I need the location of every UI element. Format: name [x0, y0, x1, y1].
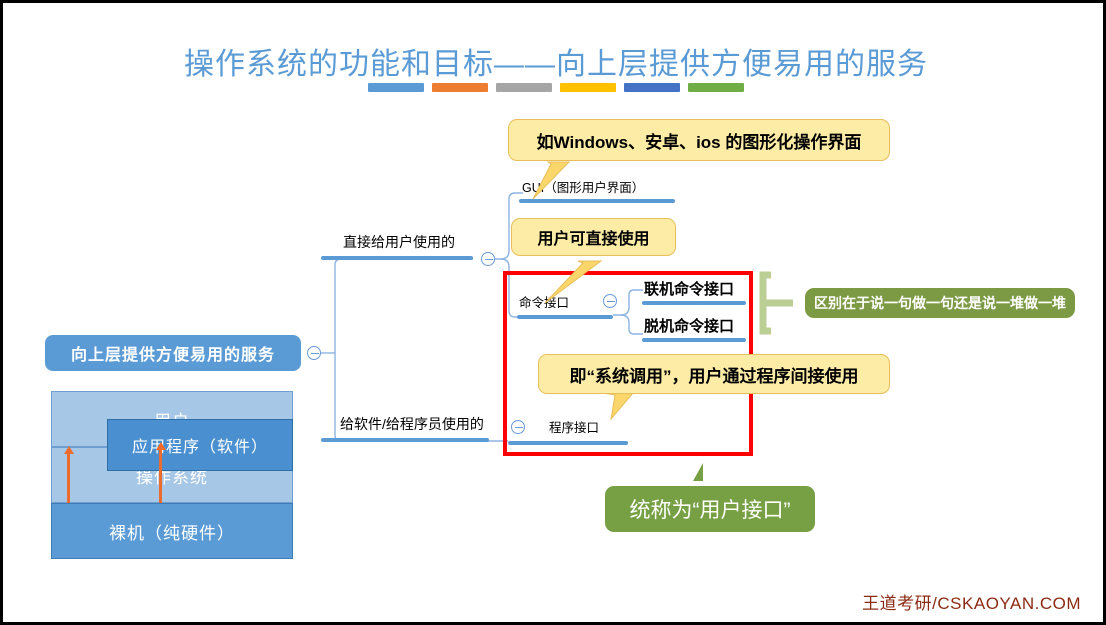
- node-gui-label[interactable]: GUI（图形用户界面）: [522, 182, 644, 195]
- root-node[interactable]: 向上层提供方便易用的服务: [45, 335, 301, 371]
- title-decoration-bars: [3, 83, 1106, 92]
- callout-gui-note: 如Windows、安卓、ios 的图形化操作界面: [508, 119, 890, 161]
- callout-syscall-note: 即“系统调用”，用户通过程序间接使用: [538, 354, 890, 394]
- arrow-os-to-user: [67, 453, 70, 503]
- page-title: 操作系统的功能和目标——向上层提供方便易用的服务: [3, 39, 1106, 83]
- slide-canvas: 操作系统的功能和目标——向上层提供方便易用的服务 向上层提供方便易用的服务 直接…: [0, 0, 1106, 625]
- title-bar-5: [688, 83, 744, 92]
- title-bar-0: [368, 83, 424, 92]
- layer-application: 应用程序（软件）: [107, 419, 293, 471]
- layer-stack-diagram: 用户 操作系统 裸机（纯硬件） 应用程序（软件）: [51, 391, 293, 601]
- callout-user-direct-note: 用户可直接使用: [511, 218, 676, 256]
- node-for-user-underline: [321, 256, 473, 260]
- root-collapse-toggle[interactable]: [307, 346, 321, 360]
- title-bar-4: [624, 83, 680, 92]
- layer-hardware: 裸机（纯硬件）: [51, 503, 293, 559]
- node-for-software-underline: [321, 438, 489, 442]
- title-bar-2: [496, 83, 552, 92]
- node-for-software-label[interactable]: 给软件/给程序员使用的: [340, 417, 484, 431]
- node-gui-underline: [519, 199, 675, 203]
- node-for-user-label[interactable]: 直接给用户使用的: [343, 235, 455, 249]
- callout-cmd-compare-note: 区别在于说一句做一句还是说一堆做一堆: [805, 288, 1075, 318]
- arrow-os-to-app: [159, 449, 162, 503]
- title-bar-1: [432, 83, 488, 92]
- node-for-user-collapse-toggle[interactable]: [481, 252, 495, 266]
- callout-user-interface-note: 统称为“用户接口”: [605, 486, 815, 532]
- title-bar-3: [560, 83, 616, 92]
- watermark: 王道考研/CSKAOYAN.COM: [862, 589, 1081, 614]
